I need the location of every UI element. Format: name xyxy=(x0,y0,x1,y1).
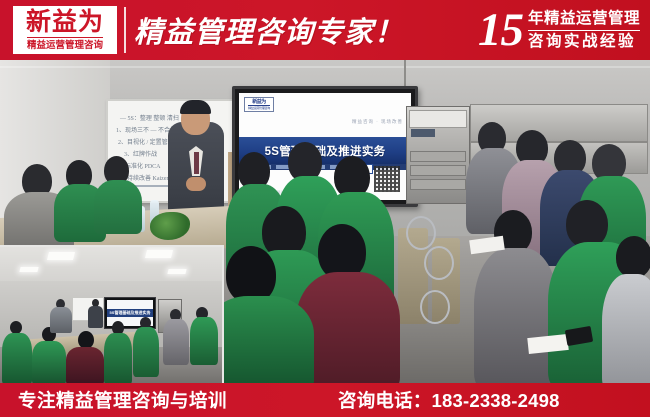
office-copier xyxy=(406,106,470,204)
ceiling-light xyxy=(167,269,186,274)
years-text-block: 年精益运营管理 咨询实战经验 xyxy=(528,9,640,52)
banner-header: 新益为 精益运营管理咨询 精益管理咨询专家！ 15 年精益运营管理 咨询实战经验 xyxy=(0,0,650,60)
slide-title: 5S管理基础及推进实务 xyxy=(265,143,386,159)
inset-photo: 5S管理基础及推进实务 xyxy=(0,245,224,383)
banner-footer: 专注精益管理咨询与培训 咨询电话：183-2338-2498 xyxy=(0,383,650,417)
logo-sub-text: 精益运营管理咨询 xyxy=(27,37,103,52)
chair-armrest xyxy=(424,246,454,280)
inset-presenter-body xyxy=(88,306,103,328)
inset-slide-title: 5S管理基础及推进实务 xyxy=(107,309,153,317)
promo-banner: 新益为 精益运营管理咨询 精益管理咨询专家！ 15 年精益运营管理 咨询实战经验… xyxy=(0,0,650,417)
ceiling-light xyxy=(19,267,38,272)
training-photo: — 5S：整理 整顿 清扫 1、现场三不 — 不合格 2、目视化 / 定置管理 … xyxy=(0,60,650,383)
ceiling-light xyxy=(47,252,75,260)
ceiling-light xyxy=(145,250,173,258)
years-line-1: 年精益运营管理 xyxy=(528,9,640,31)
footer-phone[interactable]: 咨询电话：183-2338-2498 xyxy=(338,387,560,413)
company-logo: 新益为 精益运营管理咨询 xyxy=(13,6,117,54)
slide-logo: 新益为 精益运营管理咨询 xyxy=(244,97,274,112)
inset-slide-band: 5S管理基础及推进实务 xyxy=(107,309,153,317)
years-line-2: 咨询实战经验 xyxy=(528,31,640,52)
logo-main-text: 新益为 xyxy=(26,9,104,36)
experience-badge: 15 年精益运营管理 咨询实战经验 xyxy=(478,2,640,58)
slide-meta-text: 精益咨询 · 现场改善 xyxy=(352,119,403,125)
qr-code-icon xyxy=(374,166,400,192)
footer-slogan: 专注精益管理咨询与培训 xyxy=(18,387,227,413)
ceiling-seam xyxy=(0,66,650,68)
chair-armrest xyxy=(420,290,450,324)
slide-logo-sub: 精益运营管理咨询 xyxy=(248,105,270,110)
chair-armrest xyxy=(406,216,436,250)
header-tagline: 精益管理咨询专家！ xyxy=(134,6,394,54)
years-number: 15 xyxy=(478,7,523,53)
header-divider xyxy=(124,7,126,53)
